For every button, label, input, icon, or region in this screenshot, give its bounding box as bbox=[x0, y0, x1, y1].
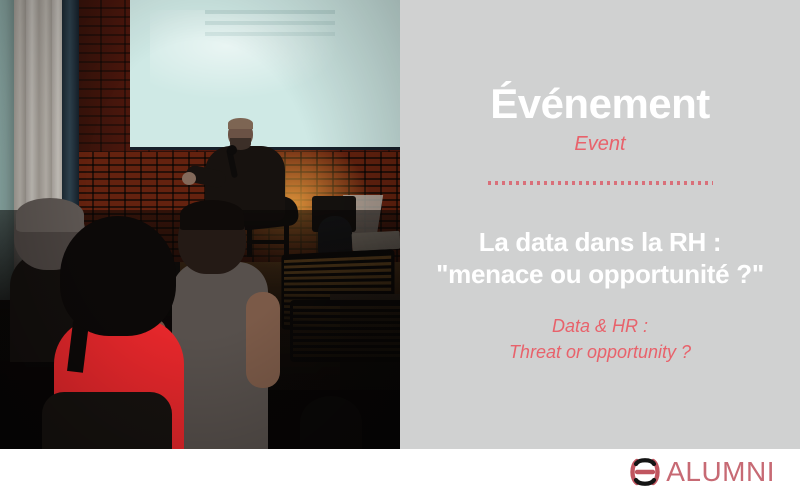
text-panel: Événement Event La data dans la RH : "me… bbox=[400, 0, 800, 449]
speaker-hair bbox=[228, 118, 253, 129]
speaker-hand bbox=[182, 172, 196, 185]
brand-logo[interactable]: ALUMNI bbox=[628, 454, 775, 489]
event-title-fr: La data dans la RH : "menace ou opportun… bbox=[400, 227, 800, 290]
brand-logo-wordmark: ALUMNI bbox=[666, 458, 775, 486]
microphone-head bbox=[227, 145, 237, 155]
event-title-fr-line2: "menace ou opportunité ?" bbox=[400, 259, 800, 291]
projection-screen-text bbox=[205, 10, 335, 52]
audience-member-2-head bbox=[60, 216, 176, 336]
audience-member-3-arm bbox=[246, 292, 280, 388]
audience-member-1-hair bbox=[16, 198, 84, 232]
dotted-divider bbox=[488, 181, 713, 185]
audience-chair bbox=[42, 392, 172, 449]
event-subtitle-en-line2: Threat or opportunity ? bbox=[400, 339, 800, 365]
vertical-pole bbox=[62, 0, 79, 225]
h-monogram-icon bbox=[628, 457, 662, 487]
event-poster: Événement Event La data dans la RH : "me… bbox=[0, 0, 800, 494]
event-heading-fr: Événement bbox=[400, 83, 800, 125]
audience-member-3-hair bbox=[180, 200, 244, 230]
event-title-fr-line1: La data dans la RH : bbox=[400, 227, 800, 259]
event-heading-en: Event bbox=[400, 134, 800, 154]
event-subtitle-en-line1: Data & HR : bbox=[400, 313, 800, 339]
footer-bar: ALUMNI bbox=[0, 449, 800, 494]
event-photo bbox=[0, 0, 400, 449]
audience-member-4-head bbox=[300, 396, 362, 449]
event-subtitle-en: Data & HR : Threat or opportunity ? bbox=[400, 313, 800, 365]
